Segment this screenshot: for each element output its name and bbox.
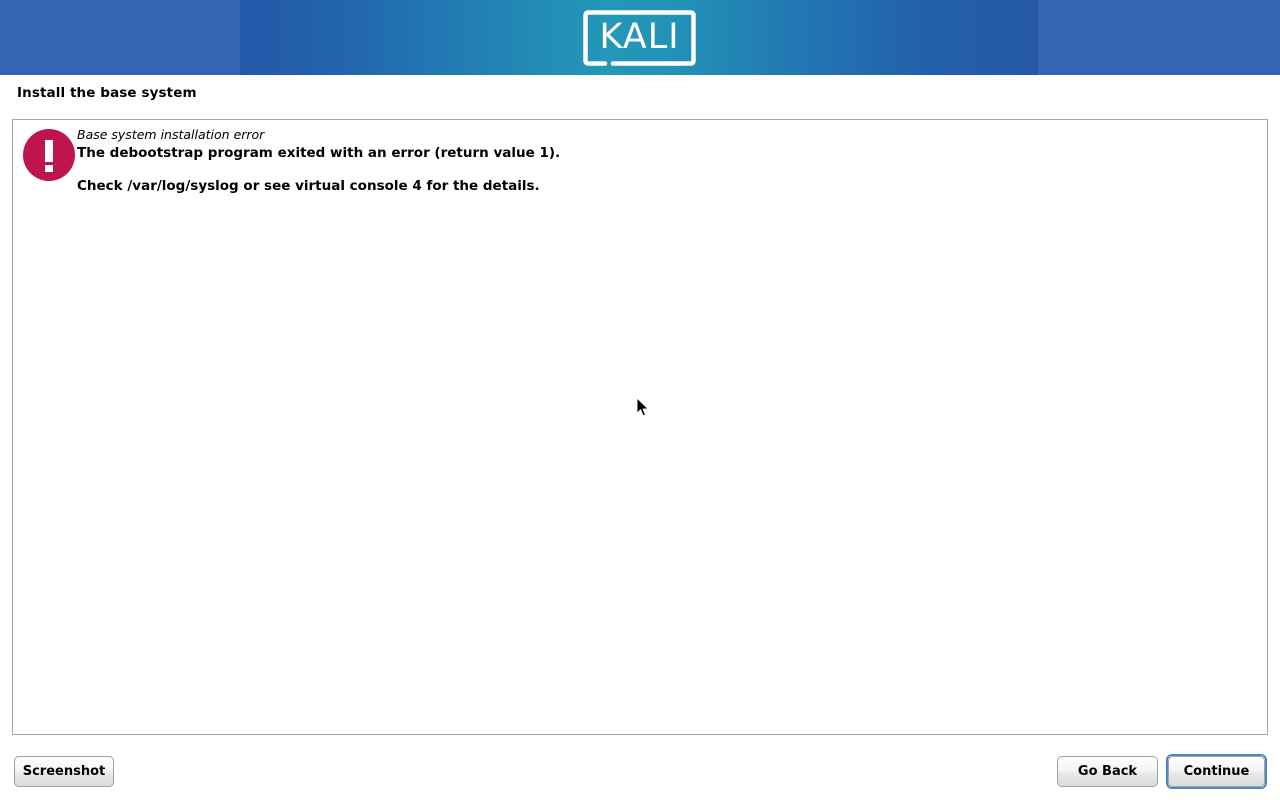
screenshot-button[interactable]: Screenshot (14, 756, 114, 787)
exclamation-bar (45, 140, 53, 162)
error-exclamation-icon (23, 129, 75, 181)
continue-button[interactable]: Continue (1168, 756, 1265, 787)
continue-button-focus-ring: Continue (1166, 754, 1267, 789)
error-headline: The debootstrap program exited with an e… (77, 145, 1257, 162)
kali-logo: KALI (583, 10, 696, 66)
kali-logo-text: KALI (583, 10, 696, 66)
page-title: Install the base system (17, 85, 197, 101)
exclamation-dot (45, 165, 53, 172)
content-panel: Base system installation error The deboo… (12, 119, 1268, 735)
kali-banner: KALI (0, 0, 1280, 75)
installer-window: KALI Install the base system Base system… (0, 0, 1280, 800)
error-detail: Check /var/log/syslog or see virtual con… (77, 178, 1257, 195)
error-subject: Base system installation error (77, 127, 1257, 143)
error-message-block: Base system installation error The deboo… (13, 120, 1267, 210)
error-text-group: Base system installation error The deboo… (77, 127, 1257, 195)
go-back-button[interactable]: Go Back (1057, 756, 1158, 787)
